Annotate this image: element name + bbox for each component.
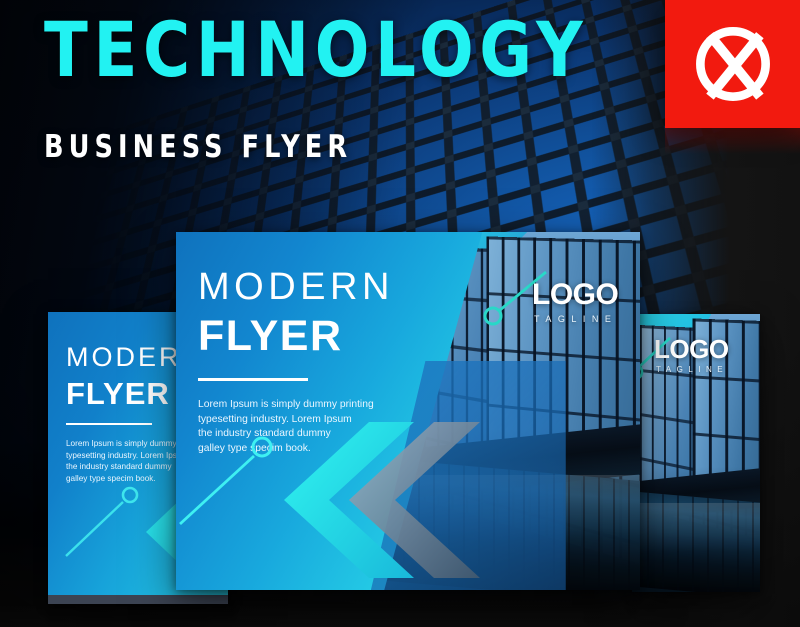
right-flyer-tagline-text: TAGLINE — [656, 366, 729, 374]
main-flyer-tagline-text: TAGLINE — [534, 315, 618, 324]
accent-circle-icon — [485, 308, 501, 324]
main-flyer-chevron-group — [176, 404, 506, 590]
main-flyer-heading-light: MODERN — [198, 268, 394, 306]
main-flyer-heading-bold: FLYER — [198, 315, 394, 358]
left-flyer-divider — [66, 423, 152, 425]
accent-line — [180, 456, 254, 524]
header-block: TECHNOLOGY BUSINESS FLYER — [44, 14, 623, 165]
main-flyer-divider — [198, 378, 308, 381]
badge-shadow — [665, 128, 800, 154]
page-title: TECHNOLOGY — [44, 14, 588, 87]
brand-logo-badge[interactable] — [665, 0, 800, 128]
main-flyer-logo-text: LOGO — [532, 280, 618, 310]
left-flyer-bottom-bar — [48, 595, 228, 604]
main-flyer-preview[interactable]: LOGO TAGLINE MODERN FLYER Lorem Ipsum is… — [176, 232, 640, 590]
accent-circle-icon — [123, 488, 137, 502]
main-flyer-logo-lockup: LOGO TAGLINE — [532, 280, 618, 324]
right-flyer-preview[interactable]: LOGO TAGLINE — [632, 314, 760, 592]
right-flyer-logo-text: LOGO — [654, 336, 729, 362]
accent-circle-icon — [253, 438, 271, 456]
flyer-mockup-canvas: TECHNOLOGY BUSINESS FLYER MODERN FLYER L… — [0, 0, 800, 627]
right-flyer-logo-lockup: LOGO TAGLINE — [654, 336, 729, 374]
page-subtitle: BUSINESS FLYER — [44, 129, 577, 165]
accent-line — [66, 502, 123, 556]
circle-x-logo-icon — [685, 16, 781, 112]
